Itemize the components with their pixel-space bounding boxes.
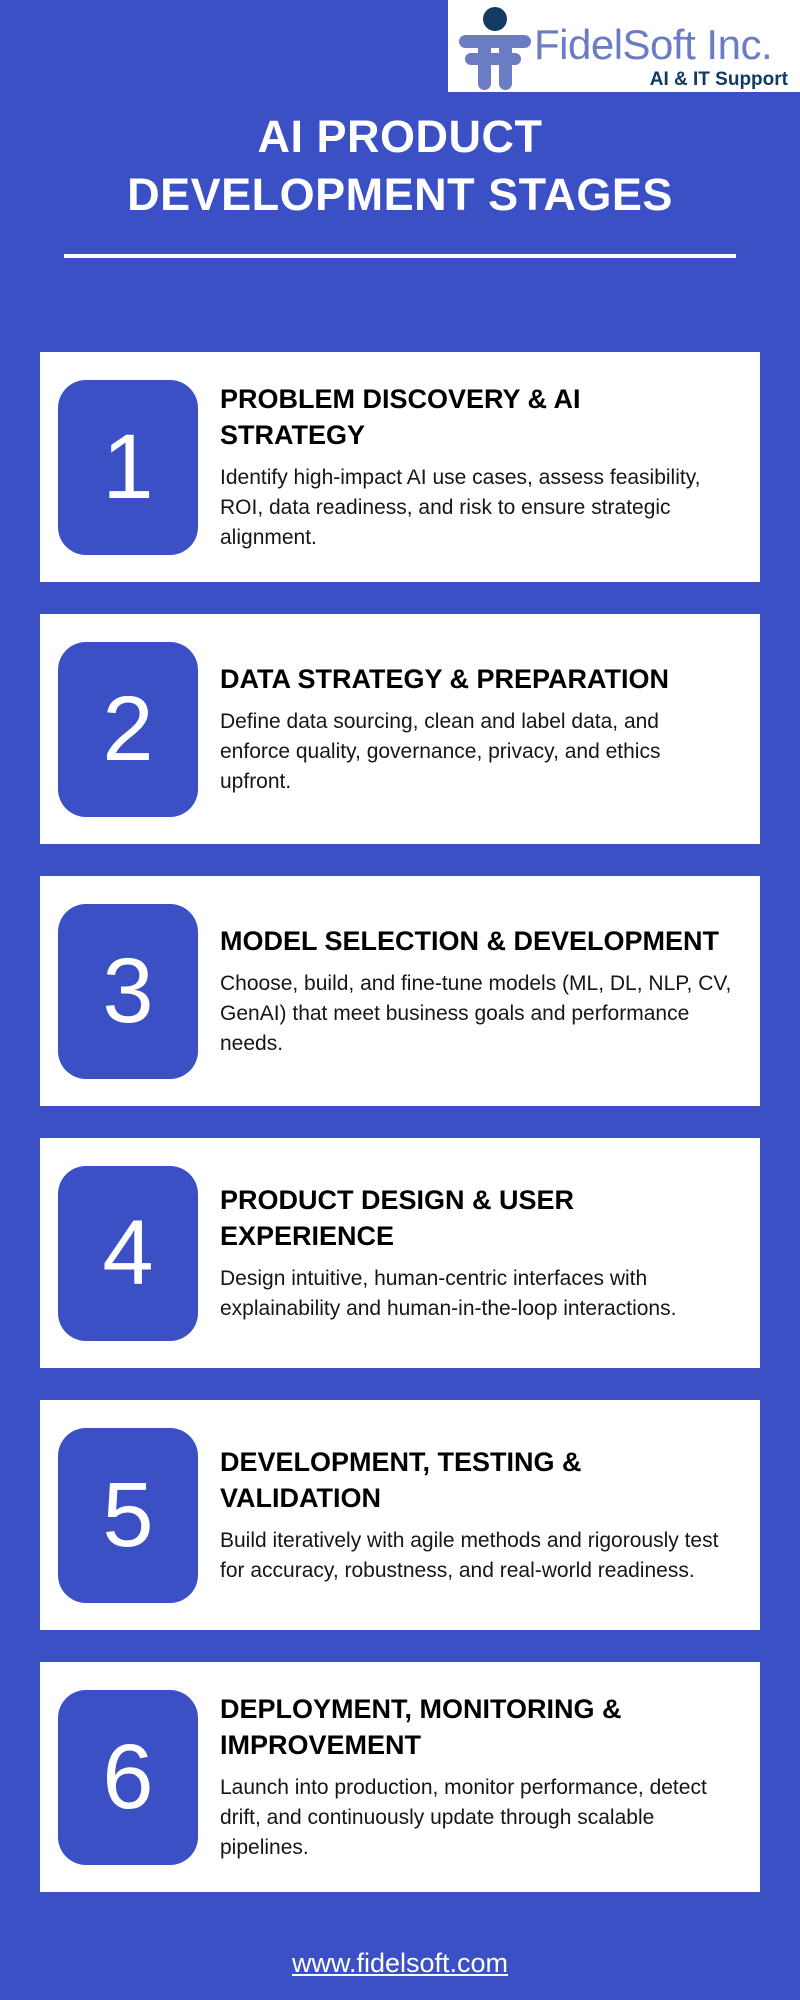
stage-number-badge: 1: [58, 380, 198, 555]
stage-card: 6 DEPLOYMENT, MONITORING & IMPROVEMENT L…: [40, 1662, 760, 1892]
stage-description: Build iteratively with agile methods and…: [220, 1526, 732, 1586]
stage-description: Design intuitive, human-centric interfac…: [220, 1264, 732, 1324]
page-header: AI PRODUCT DEVELOPMENT STAGES: [0, 108, 800, 258]
stage-card: 1 PROBLEM DISCOVERY & AI STRATEGY Identi…: [40, 352, 760, 582]
page-title-line-1: AI PRODUCT: [258, 111, 543, 162]
stage-content: DATA STRATEGY & PREPARATION Define data …: [220, 661, 736, 797]
stage-description: Launch into production, monitor performa…: [220, 1773, 732, 1863]
stage-number: 1: [102, 421, 153, 513]
website-link[interactable]: www.fidelsoft.com: [292, 1947, 508, 1979]
title-divider: [64, 254, 736, 258]
stage-content: MODEL SELECTION & DEVELOPMENT Choose, bu…: [220, 923, 736, 1059]
stage-number-badge: 5: [58, 1428, 198, 1603]
stage-description: Choose, build, and fine-tune models (ML,…: [220, 969, 732, 1059]
stage-content: DEPLOYMENT, MONITORING & IMPROVEMENT Lau…: [220, 1691, 736, 1863]
stage-number: 6: [102, 1731, 153, 1823]
stage-description: Identify high-impact AI use cases, asses…: [220, 463, 732, 553]
stage-description: Define data sourcing, clean and label da…: [220, 707, 732, 797]
stage-title: DEVELOPMENT, TESTING & VALIDATION: [220, 1444, 732, 1516]
logo-company-name: FidelSoft Inc.: [534, 22, 790, 68]
stage-list: 1 PROBLEM DISCOVERY & AI STRATEGY Identi…: [0, 352, 800, 1892]
stage-content: PRODUCT DESIGN & USER EXPERIENCE Design …: [220, 1182, 736, 1324]
page-footer: www.fidelsoft.com: [0, 1926, 800, 2000]
stage-content: PROBLEM DISCOVERY & AI STRATEGY Identify…: [220, 381, 736, 553]
stage-card: 3 MODEL SELECTION & DEVELOPMENT Choose, …: [40, 876, 760, 1106]
stage-number: 4: [102, 1207, 153, 1299]
fidelsoft-person-logo-icon: [456, 6, 534, 90]
stage-card: 2 DATA STRATEGY & PREPARATION Define dat…: [40, 614, 760, 844]
stage-title: PRODUCT DESIGN & USER EXPERIENCE: [220, 1182, 732, 1254]
company-logo: FidelSoft Inc. AI & IT Support: [448, 0, 800, 92]
stage-number: 3: [102, 945, 153, 1037]
logo-tagline: AI & IT Support: [534, 68, 790, 91]
page-title: AI PRODUCT DEVELOPMENT STAGES: [0, 108, 800, 224]
page-title-line-2: DEVELOPMENT STAGES: [127, 169, 673, 220]
stage-number: 5: [102, 1469, 153, 1561]
stage-title: DEPLOYMENT, MONITORING & IMPROVEMENT: [220, 1691, 732, 1763]
stage-card: 5 DEVELOPMENT, TESTING & VALIDATION Buil…: [40, 1400, 760, 1630]
stage-number-badge: 6: [58, 1690, 198, 1865]
stage-card: 4 PRODUCT DESIGN & USER EXPERIENCE Desig…: [40, 1138, 760, 1368]
stage-number: 2: [102, 683, 153, 775]
stage-title: MODEL SELECTION & DEVELOPMENT: [220, 923, 732, 959]
stage-number-badge: 3: [58, 904, 198, 1079]
stage-title: DATA STRATEGY & PREPARATION: [220, 661, 732, 697]
stage-number-badge: 4: [58, 1166, 198, 1341]
stage-content: DEVELOPMENT, TESTING & VALIDATION Build …: [220, 1444, 736, 1586]
stage-title: PROBLEM DISCOVERY & AI STRATEGY: [220, 381, 732, 453]
stage-number-badge: 2: [58, 642, 198, 817]
